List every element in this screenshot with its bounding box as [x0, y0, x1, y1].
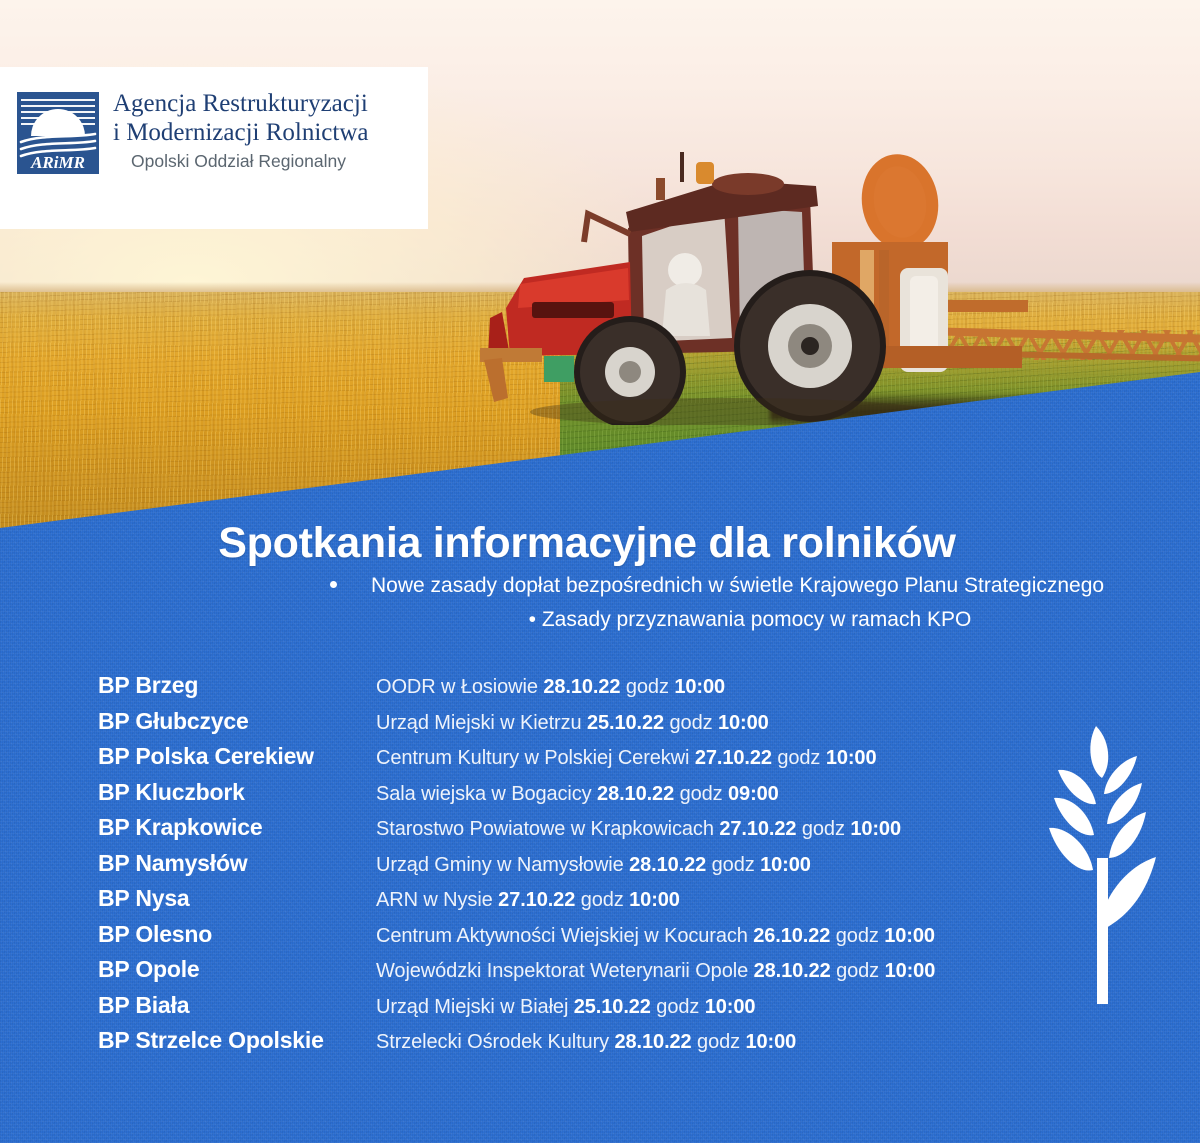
subtitle-bullet-1: Nowe zasady dopłat bezpośrednich w świet… — [330, 572, 1190, 600]
poster-title: Spotkania informacyjne dla rolników — [0, 519, 1200, 567]
schedule-time: 10:00 — [826, 747, 877, 769]
schedule-godz-label: godz — [836, 960, 879, 982]
schedule-office-name: BP Strzelce Opolskie — [98, 1027, 376, 1054]
schedule-office-name: BP Kluczbork — [98, 779, 376, 806]
schedule-venue: Strzelecki Ośrodek Kultury — [376, 1031, 609, 1053]
schedule-time: 10:00 — [705, 996, 756, 1018]
schedule-time: 10:00 — [884, 925, 935, 947]
subtitle-bullet-2: • Zasady przyznawania pomocy w ramach KP… — [330, 606, 1170, 634]
arimr-logo-block: ARiMR Agencja Restrukturyzacji i Moderni… — [0, 67, 428, 229]
schedule-venue-detail: Sala wiejska w Bogacicy 28.10.22 godz 09… — [376, 783, 779, 806]
bullet-dot-icon — [330, 581, 337, 588]
logo-line-1: Agencja Restrukturyzacji — [113, 89, 368, 118]
schedule-date: 28.10.22 — [629, 854, 706, 876]
schedule-row: BP Strzelce OpolskieStrzelecki Ośrodek K… — [98, 1027, 1018, 1063]
schedule-venue-detail: Strzelecki Ośrodek Kultury 28.10.22 godz… — [376, 1031, 796, 1054]
schedule-date: 28.10.22 — [615, 1031, 692, 1053]
schedule-office-name: BP Głubczyce — [98, 708, 376, 735]
schedule-office-name: BP Brzeg — [98, 672, 376, 699]
schedule-row: BP OlesnoCentrum Aktywności Wiejskiej w … — [98, 921, 1018, 957]
schedule-venue-detail: Urząd Miejski w Kietrzu 25.10.22 godz 10… — [376, 712, 769, 735]
schedule-venue: Centrum Aktywności Wiejskiej w Kocurach — [376, 925, 748, 947]
poster-title-text: Spotkania informacyjne dla rolników — [218, 519, 981, 567]
schedule-godz-label: godz — [836, 925, 879, 947]
schedule-date: 28.10.22 — [754, 960, 831, 982]
schedule-date: 26.10.22 — [753, 925, 830, 947]
poster-canvas: ARiMR Agencja Restrukturyzacji i Moderni… — [0, 0, 1200, 1143]
schedule-venue-detail: ARN w Nysie 27.10.22 godz 10:00 — [376, 889, 680, 912]
wheat-ear-icon — [1034, 718, 1184, 1008]
schedule-row: BP BrzegOODR w Łosiowie 28.10.22 godz 10… — [98, 672, 1018, 708]
schedule-office-name: BP Polska Cerekiew — [98, 743, 376, 770]
schedule-venue: Centrum Kultury w Polskiej Cerekwi — [376, 747, 689, 769]
schedule-venue: OODR w Łosiowie — [376, 676, 538, 698]
schedule-godz-label: godz — [697, 1031, 740, 1053]
schedule-office-name: BP Namysłów — [98, 850, 376, 877]
schedule-venue: Urząd Gminy w Namysłowie — [376, 854, 624, 876]
schedule-time: 10:00 — [885, 960, 936, 982]
schedule-office-name: BP Opole — [98, 956, 376, 983]
schedule-row: BP NysaARN w Nysie 27.10.22 godz 10:00 — [98, 885, 1018, 921]
logo-line-2: i Modernizacji Rolnictwa — [113, 118, 368, 147]
schedule-time: 10:00 — [850, 818, 901, 840]
arimr-logo-icon: ARiMR — [17, 92, 99, 174]
schedule-venue: Urząd Miejski w Kietrzu — [376, 712, 582, 734]
schedule-office-name: BP Krapkowice — [98, 814, 376, 841]
schedule-row: BP NamysłówUrząd Gminy w Namysłowie 28.1… — [98, 850, 1018, 886]
schedule-godz-label: godz — [670, 712, 713, 734]
schedule-row: BP KluczborkSala wiejska w Bogacicy 28.1… — [98, 779, 1018, 815]
schedule-venue-detail: OODR w Łosiowie 28.10.22 godz 10:00 — [376, 676, 725, 699]
schedule-office-name: BP Biała — [98, 992, 376, 1019]
schedule-venue-detail: Wojewódzki Inspektorat Weterynarii Opole… — [376, 960, 935, 983]
schedule-godz-label: godz — [581, 889, 624, 911]
schedule-venue: Wojewódzki Inspektorat Weterynarii Opole — [376, 960, 748, 982]
schedule-office-name: BP Nysa — [98, 885, 376, 912]
schedule-date: 27.10.22 — [498, 889, 575, 911]
schedule-row: BP KrapkowiceStarostwo Powiatowe w Krapk… — [98, 814, 1018, 850]
schedule-godz-label: godz — [626, 676, 669, 698]
schedule-date: 27.10.22 — [719, 818, 796, 840]
schedule-venue-detail: Urząd Gminy w Namysłowie 28.10.22 godz 1… — [376, 854, 811, 877]
schedule-godz-label: godz — [712, 854, 755, 876]
schedule-row: BP GłubczyceUrząd Miejski w Kietrzu 25.1… — [98, 708, 1018, 744]
schedule-venue: Urząd Miejski w Białej — [376, 996, 568, 1018]
schedule-time: 10:00 — [718, 712, 769, 734]
schedule-venue: Starostwo Powiatowe w Krapkowicach — [376, 818, 714, 840]
schedule-venue-detail: Starostwo Powiatowe w Krapkowicach 27.10… — [376, 818, 901, 841]
schedule-date: 25.10.22 — [587, 712, 664, 734]
schedule-venue: Sala wiejska w Bogacicy — [376, 783, 592, 805]
subtitle-1-text: Nowe zasady dopłat bezpośrednich w świet… — [371, 572, 1104, 600]
schedule-godz-label: godz — [656, 996, 699, 1018]
schedule-venue-detail: Centrum Kultury w Polskiej Cerekwi 27.10… — [376, 747, 876, 770]
schedule-date: 28.10.22 — [543, 676, 620, 698]
logo-line-3: Opolski Oddział Regionalny — [131, 150, 368, 172]
schedule-time: 10:00 — [746, 1031, 797, 1053]
subtitle-2-text: • Zasady przyznawania pomocy w ramach KP… — [529, 608, 972, 631]
schedule-date: 28.10.22 — [597, 783, 674, 805]
schedule-date: 27.10.22 — [695, 747, 772, 769]
schedule-date: 25.10.22 — [574, 996, 651, 1018]
schedule-row: BP Polska CerekiewCentrum Kultury w Pols… — [98, 743, 1018, 779]
schedule-time: 10:00 — [674, 676, 725, 698]
schedule-godz-label: godz — [777, 747, 820, 769]
schedule-godz-label: godz — [802, 818, 845, 840]
meetings-schedule-list: BP BrzegOODR w Łosiowie 28.10.22 godz 10… — [98, 672, 1018, 1063]
schedule-venue: ARN w Nysie — [376, 889, 493, 911]
arimr-mark-label: ARiMR — [30, 153, 85, 172]
schedule-office-name: BP Olesno — [98, 921, 376, 948]
schedule-time: 10:00 — [629, 889, 680, 911]
tractor-illustration — [480, 150, 1040, 425]
schedule-row: BP OpoleWojewódzki Inspektorat Weterynar… — [98, 956, 1018, 992]
schedule-venue-detail: Centrum Aktywności Wiejskiej w Kocurach … — [376, 925, 935, 948]
schedule-time: 09:00 — [728, 783, 779, 805]
schedule-time: 10:00 — [760, 854, 811, 876]
schedule-row: BP BiałaUrząd Miejski w Białej 25.10.22 … — [98, 992, 1018, 1028]
schedule-godz-label: godz — [680, 783, 723, 805]
schedule-venue-detail: Urząd Miejski w Białej 25.10.22 godz 10:… — [376, 996, 755, 1019]
